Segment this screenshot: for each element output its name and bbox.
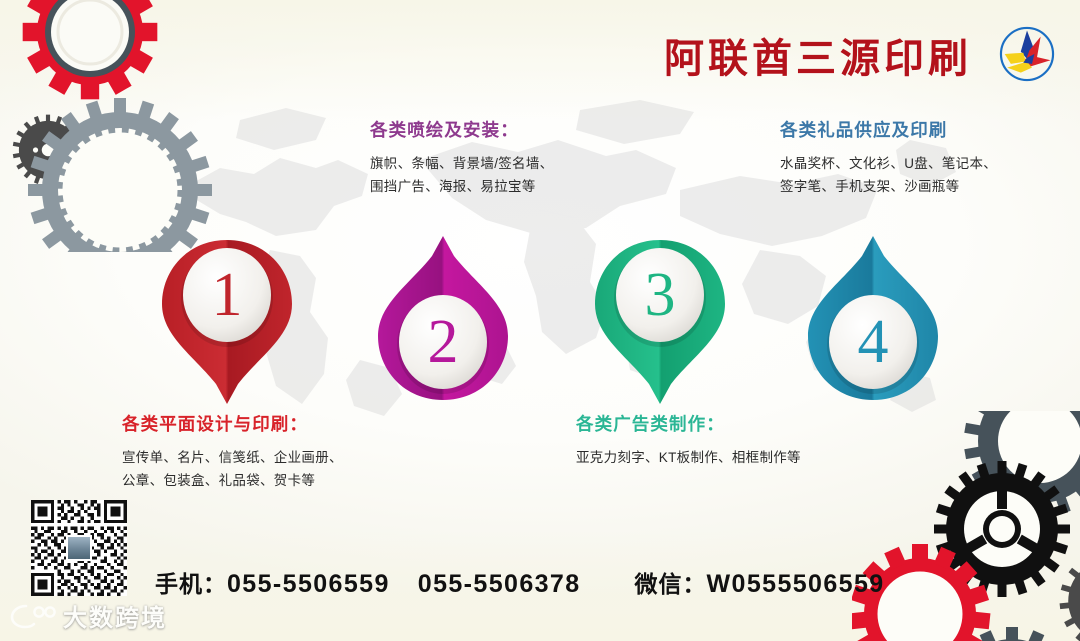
phone-number-2: 055-5506378: [418, 570, 581, 599]
section-gift-line-1: 水晶奖杯、文化衫、U盘、笔记本、: [780, 152, 997, 175]
pin-number-3: 3: [645, 261, 676, 329]
gear-cluster-top-left: [0, 0, 230, 252]
phone-number-1: 055-5506559: [227, 570, 390, 599]
section-gift: 各类礼品供应及印刷 水晶奖杯、文化衫、U盘、笔记本、 签字笔、手机支架、沙画瓶等: [780, 120, 997, 198]
pin-number-1: 1: [212, 261, 243, 329]
pin-marker-1: 1: [152, 232, 302, 412]
section-design-heading: 各类平面设计与印刷：: [122, 414, 343, 435]
wechat-label: 微信：: [635, 565, 707, 599]
section-spray: 各类喷绘及安装： 旗帜、条幅、背景墙/签名墙、 围挡广告、海报、易拉宝等: [370, 120, 553, 198]
printing-service-poster: 阿联酋三源印刷 1: [0, 0, 1080, 641]
pin-marker-4: 4: [798, 228, 948, 408]
pin-number-2: 2: [428, 308, 459, 376]
section-advertising-line-1: 亚克力刻字、KT板制作、相框制作等: [576, 446, 801, 469]
gear-icon: [0, 0, 13, 7]
gear-icon: [1060, 551, 1080, 641]
wechat-id: W0555506559: [707, 570, 885, 599]
pin-marker-2: 2: [368, 228, 518, 408]
section-spray-line-1: 旗帜、条幅、背景墙/签名墙、: [370, 152, 553, 175]
pin-marker-3: 3: [585, 232, 735, 412]
section-spray-line-2: 围挡广告、海报、易拉宝等: [370, 175, 553, 198]
gear-icon: [23, 0, 158, 99]
gear-icon: [28, 98, 212, 252]
section-advertising-heading: 各类广告类制作：: [576, 414, 801, 435]
pin-number-4: 4: [858, 308, 889, 376]
section-advertising: 各类广告类制作： 亚克力刻字、KT板制作、相框制作等: [576, 414, 801, 469]
section-gift-heading: 各类礼品供应及印刷: [780, 120, 997, 141]
qr-code-icon[interactable]: [31, 500, 127, 596]
pinwheel-logo-icon: [996, 23, 1058, 85]
watermark-text: 大数跨境: [63, 598, 167, 633]
gear-cluster-bottom-right: [852, 411, 1080, 641]
section-design: 各类平面设计与印刷： 宣传单、名片、信笺纸、企业画册、 公章、包装盒、礼品袋、贺…: [122, 414, 343, 492]
watermark-logo-icon: [10, 602, 56, 630]
phone-label: 手机：: [155, 565, 227, 599]
section-design-line-2: 公章、包装盒、礼品袋、贺卡等: [122, 469, 343, 492]
section-gift-line-2: 签字笔、手机支架、沙画瓶等: [780, 175, 997, 198]
watermark: 大数跨境: [10, 598, 167, 633]
brand-title: 阿联酋三源印刷: [664, 26, 972, 84]
qr-center-logo-icon: [66, 535, 92, 561]
section-spray-heading: 各类喷绘及安装：: [370, 120, 553, 141]
section-design-line-1: 宣传单、名片、信笺纸、企业画册、: [122, 446, 343, 469]
contact-bar: 手机： 055-5506559 055-5506378 微信： W0555506…: [155, 565, 885, 599]
